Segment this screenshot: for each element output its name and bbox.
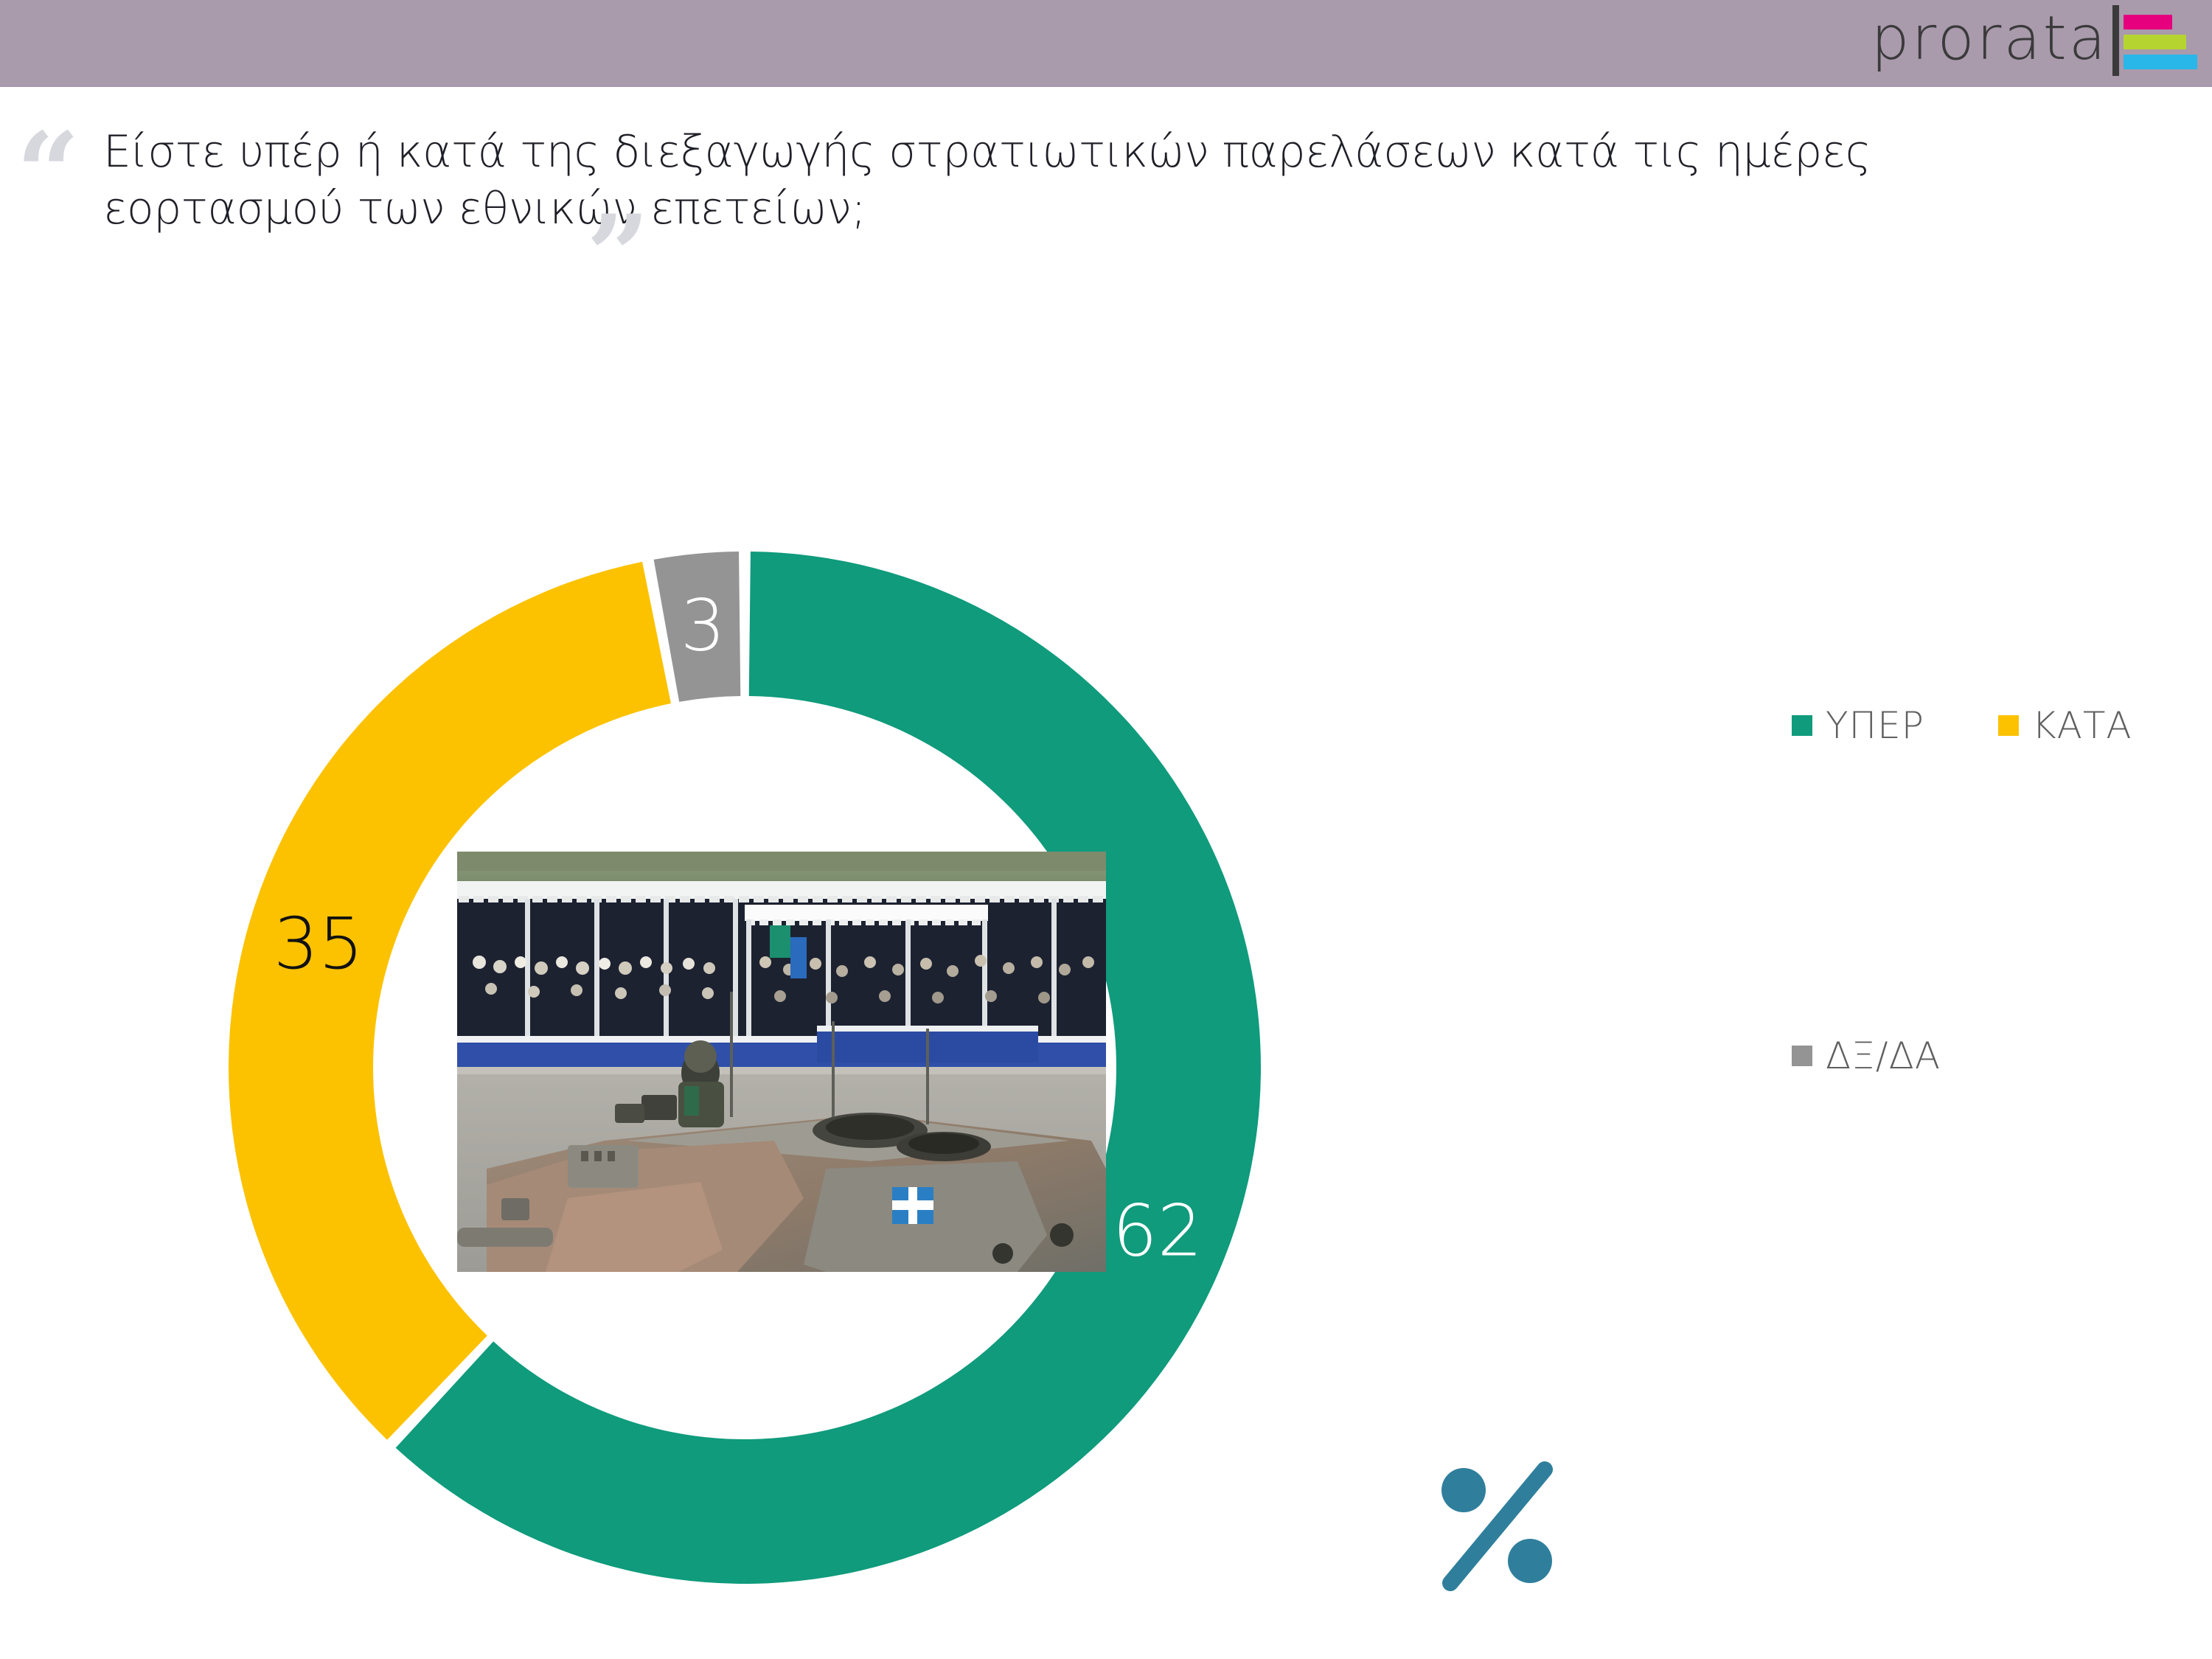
donut-slice-label-3: 3 <box>681 585 726 667</box>
question-text: Είστε υπέρ ή κατά της διεξαγωγής στρατιω… <box>103 124 2020 237</box>
parade-photo-illustration <box>457 852 1106 1272</box>
header-bar: prorata <box>0 0 2212 87</box>
legend-label-dxda: ΔΞ/ΔΑ <box>1826 1034 1941 1077</box>
brand-bar-green <box>2124 35 2186 49</box>
center-image <box>457 852 1106 1272</box>
donut-slice-label-1: 62 <box>1113 1190 1203 1273</box>
quote-close-icon: ” <box>586 201 645 311</box>
brand-logo: prorata <box>1871 0 2198 87</box>
legend-swatch-kata <box>1998 715 2019 736</box>
brand-wordmark: prorata <box>1871 9 2109 69</box>
brand-bar-pink <box>2124 15 2172 29</box>
legend-label-kata: ΚΑΤΑ <box>2032 704 2132 747</box>
legend-row-1: ΥΠΕΡ ΚΑΤΑ <box>1792 704 2190 747</box>
brand-divider <box>2112 5 2119 76</box>
legend-item-dxda[interactable]: ΔΞ/ΔΑ <box>1792 1034 1941 1077</box>
donut-slice-label-2: 35 <box>274 902 364 985</box>
chart-legend: ΥΠΕΡ ΚΑΤΑ ΔΞ/ΔΑ <box>1792 704 2190 1077</box>
brand-bars-icon <box>2124 15 2197 69</box>
brand-bar-blue <box>2124 55 2197 69</box>
legend-row-2: ΔΞ/ΔΑ <box>1792 1034 2190 1077</box>
legend-swatch-dxda <box>1792 1046 1812 1066</box>
legend-swatch-yper <box>1792 715 1812 736</box>
percent-symbol-svg <box>1427 1456 1574 1596</box>
quote-open-icon: “ <box>16 118 75 229</box>
legend-item-kata[interactable]: ΚΑΤΑ <box>1998 704 2132 747</box>
legend-label-yper: ΥΠΕΡ <box>1826 704 1924 747</box>
percent-symbol-icon <box>1427 1456 1574 1596</box>
legend-item-yper[interactable]: ΥΠΕΡ <box>1792 704 1924 747</box>
